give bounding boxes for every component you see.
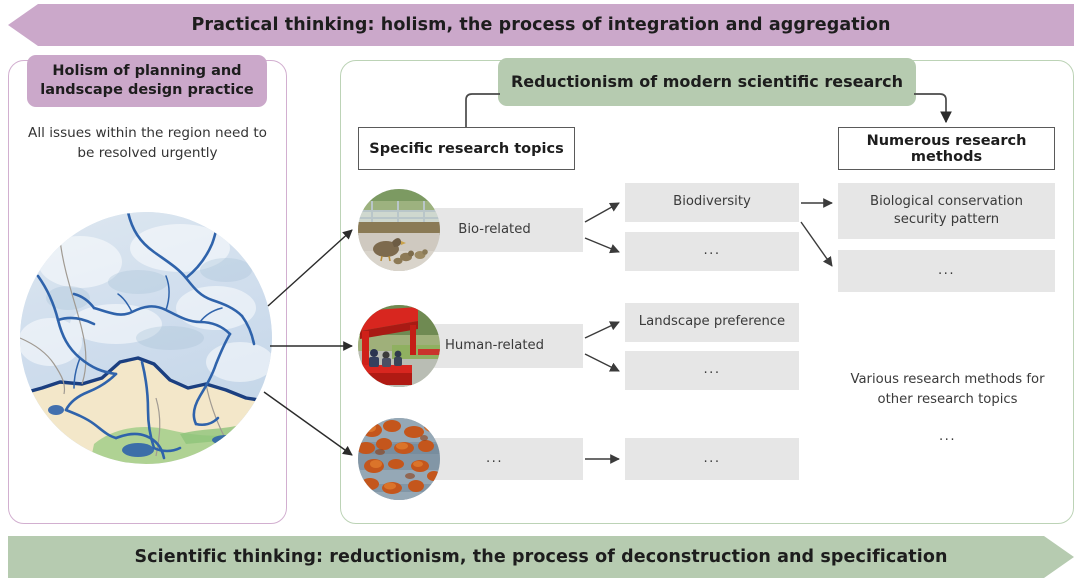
autumn-wetland-trees-photo bbox=[358, 418, 440, 500]
holism-panel-caption-label: All issues within the region need to be … bbox=[28, 125, 267, 161]
reductionism-panel-header-label: Reductionism of modern scientific resear… bbox=[511, 72, 903, 92]
regional-watershed-map bbox=[20, 212, 272, 464]
topic-box-bio-related-label: Bio-related bbox=[458, 221, 530, 239]
method-box-biological-conservation-security-pattern-label: Biological conservation security pattern bbox=[846, 193, 1047, 230]
various-methods-note-label: Various research methods for other resea… bbox=[850, 372, 1044, 407]
holism-panel-header: Holism of planning and landscape design … bbox=[27, 55, 267, 107]
numerous-research-methods-label: Numerous research methods bbox=[839, 133, 1054, 165]
autumn-wetland-trees-photo-graphic bbox=[358, 418, 440, 500]
subtopic-box-other-ellipsis-label: ... bbox=[703, 450, 720, 468]
holism-panel-header-label: Holism of planning and landscape design … bbox=[37, 62, 257, 99]
specific-research-topics-label: Specific research topics bbox=[369, 141, 563, 157]
subtopic-box-bio-ellipsis: ... bbox=[625, 232, 799, 271]
subtopic-box-human-ellipsis: ... bbox=[625, 351, 799, 390]
method-box-bio-ellipsis: ... bbox=[838, 250, 1055, 292]
topic-box-other-ellipsis-label: ... bbox=[486, 450, 503, 468]
subtopic-box-landscape-preference: Landscape preference bbox=[625, 303, 799, 342]
reductionism-panel-header: Reductionism of modern scientific resear… bbox=[498, 58, 916, 106]
map-graphic bbox=[20, 212, 272, 464]
subtopic-box-human-ellipsis-label: ... bbox=[703, 361, 720, 379]
specific-research-topics-box: Specific research topics bbox=[358, 127, 575, 170]
diagram-canvas: Practical thinking: holism, the process … bbox=[0, 0, 1080, 580]
subtopic-box-biodiversity-label: Biodiversity bbox=[673, 193, 751, 211]
red-pavilion-people-photo bbox=[358, 305, 440, 387]
topic-box-human-related-label: Human-related bbox=[445, 337, 544, 355]
scientific-thinking-banner: Scientific thinking: reductionism, the p… bbox=[8, 536, 1074, 578]
ducks-on-path-photo-graphic bbox=[358, 189, 440, 271]
subtopic-box-bio-ellipsis-label: ... bbox=[703, 242, 720, 260]
subtopic-box-landscape-preference-label: Landscape preference bbox=[639, 313, 785, 331]
scientific-thinking-banner-label: Scientific thinking: reductionism, the p… bbox=[134, 547, 947, 567]
numerous-research-methods-box: Numerous research methods bbox=[838, 127, 1055, 170]
practical-thinking-banner: Practical thinking: holism, the process … bbox=[8, 4, 1074, 46]
subtopic-box-other-ellipsis: ... bbox=[625, 438, 799, 480]
practical-thinking-banner-label: Practical thinking: holism, the process … bbox=[191, 15, 890, 35]
subtopic-box-biodiversity: Biodiversity bbox=[625, 183, 799, 222]
method-box-bio-ellipsis-label: ... bbox=[938, 262, 955, 280]
various-methods-ellipsis: ... bbox=[840, 427, 1055, 447]
various-methods-note: Various research methods for other resea… bbox=[840, 370, 1055, 447]
method-box-biological-conservation-security-pattern: Biological conservation security pattern bbox=[838, 183, 1055, 239]
holism-panel-caption: All issues within the region need to be … bbox=[20, 124, 275, 163]
ducks-on-path-photo bbox=[358, 189, 440, 271]
red-pavilion-people-photo-graphic bbox=[358, 305, 440, 387]
